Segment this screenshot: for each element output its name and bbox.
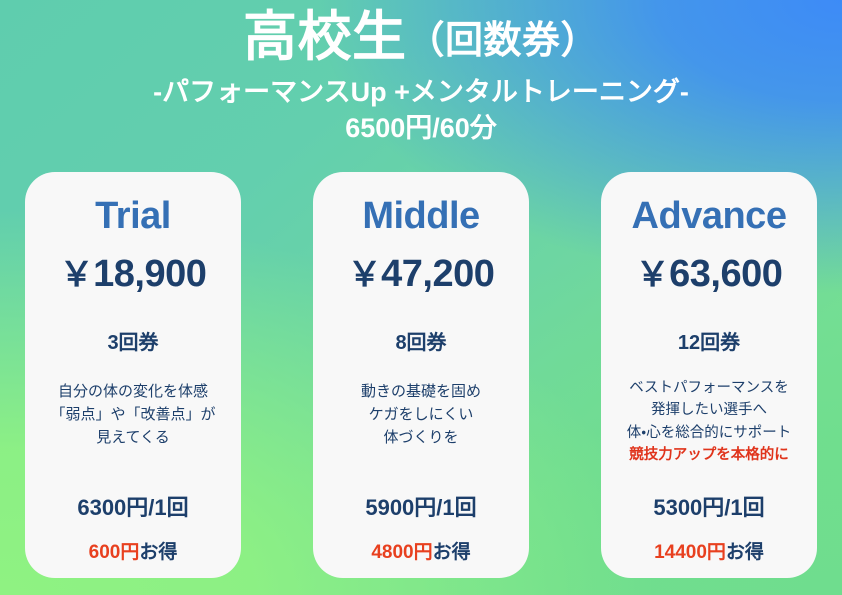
plan-description-line: 動きの基礎を固め [321,380,521,403]
yen-symbol: ￥ [348,256,382,294]
plan-description-line: 発揮したい選手へ [609,399,809,421]
plan-description-line: 体・心を総合的にサポート [609,422,809,444]
plan-savings-label: お得 [726,542,764,563]
pricing-card-advance[interactable]: Advance ￥63,600 12回券 ベストパフォーマンスを 発揮したい選手… [601,172,817,578]
plan-name: Advance [632,196,787,238]
plan-ticket-count: 8回券 [395,326,446,355]
plan-description: ベストパフォーマンスを 発揮したい選手へ 体・心を総合的にサポート 競技力アップ… [609,377,809,467]
plan-unit-price: 5300円/1回 [653,490,764,522]
plan-name: Trial [95,196,171,238]
plan-price-value: 63,600 [669,253,782,295]
page-subtitle: -パフォーマンスUp +メンタルトレーニング- [0,74,842,110]
plan-savings: 4800円お得 [371,537,470,564]
plan-description-line: 自分の体の変化を体感 [33,380,233,403]
plan-description-line: ケガをしにくい [321,403,521,426]
plan-unit-price: 6300円/1回 [77,490,188,522]
plan-description: 自分の体の変化を体感 「弱点」や「改善点」が 見えてくる [33,380,233,450]
plan-ticket-count: 12回券 [678,326,740,355]
plan-savings: 600円お得 [89,537,178,564]
page-title-main: 高校生 [243,7,407,67]
plan-price-value: 18,900 [93,253,206,295]
pricing-card-list: Trial ￥18,900 3回券 自分の体の変化を体感 「弱点」や「改善点」が… [0,172,842,578]
session-rate: 6500円/60分 [0,111,842,146]
plan-savings: 14400円お得 [654,537,764,564]
plan-savings-label: お得 [433,542,471,563]
plan-description: 動きの基礎を固め ケガをしにくい 体づくりを [321,380,521,450]
plan-description-highlight: 競技力アップを本格的に [609,444,809,466]
plan-price: ￥47,200 [348,254,495,296]
plan-unit-price: 5900円/1回 [365,490,476,522]
plan-description-line: 見えてくる [33,426,233,449]
plan-price: ￥18,900 [60,254,207,296]
plan-description-line: ベストパフォーマンスを [609,377,809,399]
plan-ticket-count: 3回券 [107,326,158,355]
plan-savings-amount: 4800円 [371,542,432,563]
page-title: 高校生（回数券） [0,6,842,70]
page-header: 高校生（回数券） -パフォーマンスUp +メンタルトレーニング- 6500円/6… [0,0,842,146]
page-title-parenthetical: （回数券） [406,20,599,62]
plan-savings-label: お得 [139,542,177,563]
plan-description-line: 体づくりを [321,426,521,449]
pricing-card-middle[interactable]: Middle ￥47,200 8回券 動きの基礎を固め ケガをしにくい 体づくり… [313,172,529,578]
plan-description-line: 「弱点」や「改善点」が [33,403,233,426]
pricing-page: 高校生（回数券） -パフォーマンスUp +メンタルトレーニング- 6500円/6… [0,0,842,595]
yen-symbol: ￥ [60,256,94,294]
plan-name: Middle [362,196,479,238]
plan-price-value: 47,200 [381,253,494,295]
plan-savings-amount: 600円 [89,542,140,563]
pricing-card-trial[interactable]: Trial ￥18,900 3回券 自分の体の変化を体感 「弱点」や「改善点」が… [25,172,241,578]
plan-savings-amount: 14400円 [654,542,726,563]
plan-price: ￥63,600 [636,254,783,296]
yen-symbol: ￥ [636,256,670,294]
